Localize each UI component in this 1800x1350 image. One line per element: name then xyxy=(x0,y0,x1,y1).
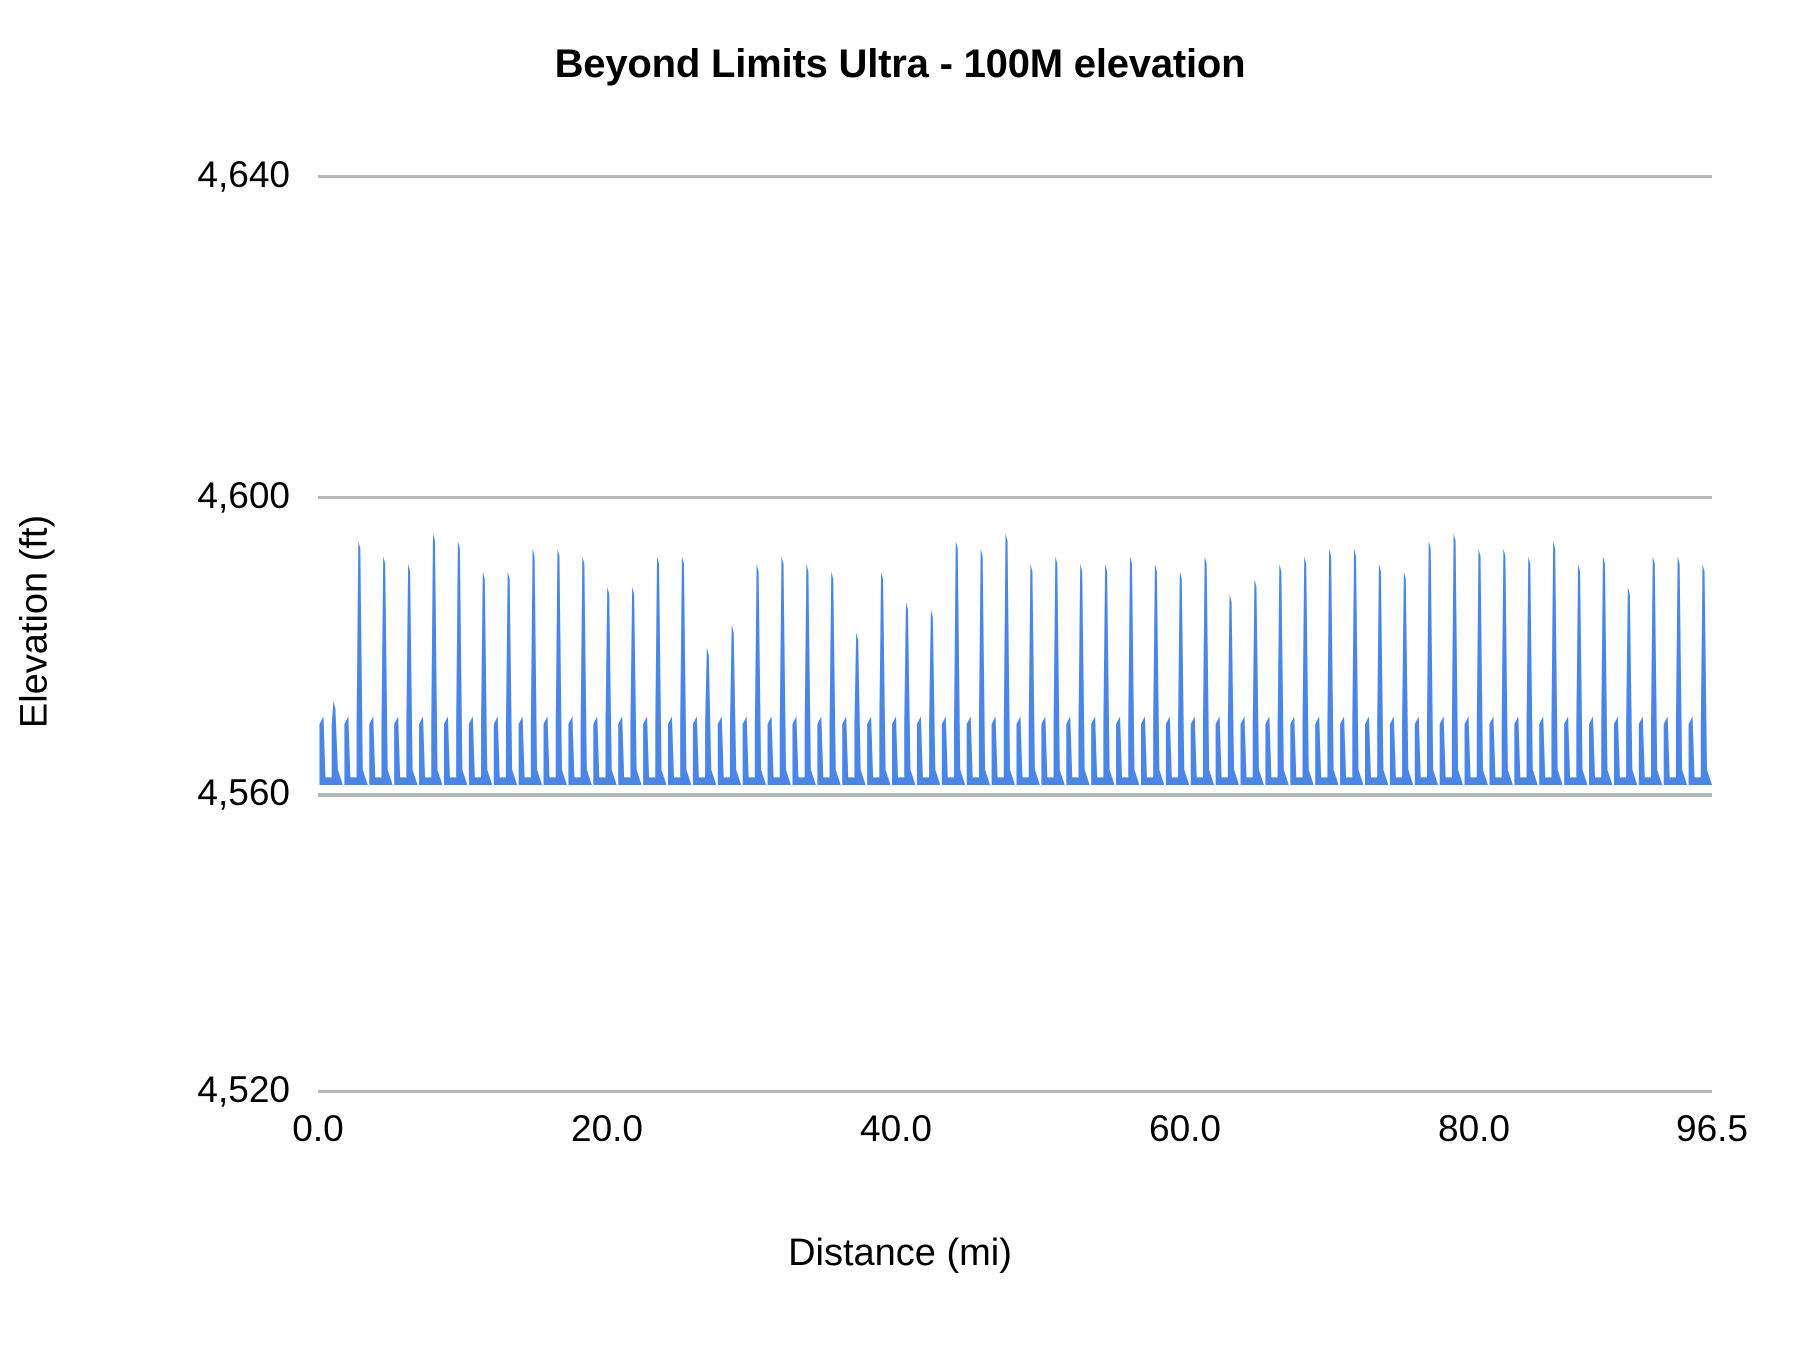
y-tick-label-4520: 4,520 xyxy=(197,1069,290,1111)
x-tick-label-60: 60.0 xyxy=(1149,1108,1221,1150)
y-tick-label-4640: 4,640 xyxy=(197,154,290,196)
x-tick-label-96-5: 96.5 xyxy=(1676,1108,1748,1150)
x-tick-label-20: 20.0 xyxy=(571,1108,643,1150)
baseline-rule xyxy=(318,793,1712,797)
y-tick-label-4600: 4,600 xyxy=(197,475,290,517)
elevation-series xyxy=(318,160,1712,1105)
chart-title: Beyond Limits Ultra - 100M elevation xyxy=(0,42,1800,87)
x-tick-label-80: 80.0 xyxy=(1438,1108,1510,1150)
x-axis-title: Distance (mi) xyxy=(0,1232,1800,1275)
elevation-chart: Beyond Limits Ultra - 100M elevation 4,6… xyxy=(0,0,1800,1350)
y-tick-label-4560: 4,560 xyxy=(197,772,290,814)
x-tick-label-0: 0.0 xyxy=(292,1108,343,1150)
x-tick-label-40: 40.0 xyxy=(860,1108,932,1150)
y-axis-title: Elevation (ft) xyxy=(14,412,57,832)
